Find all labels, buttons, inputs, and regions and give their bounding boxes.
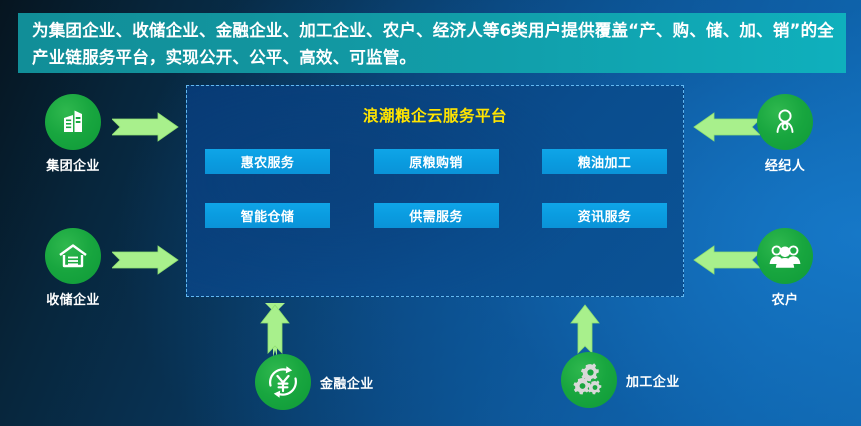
actor-label-farmer: 农户 xyxy=(757,289,813,308)
actor-group-enterprise[interactable]: 集团企业 xyxy=(45,94,101,174)
warehouse-icon xyxy=(45,228,101,284)
service-box-yuanliang[interactable]: 原粮购销 xyxy=(374,149,499,174)
arrow-storage-enterprise-to-platform xyxy=(112,245,180,275)
panel-title: 浪潮粮企云服务平台 xyxy=(187,104,683,126)
farmer-group-icon xyxy=(757,228,813,284)
actor-broker[interactable]: 经纪人 xyxy=(757,94,813,174)
service-box-liangyou[interactable]: 粮油加工 xyxy=(542,149,667,174)
actor-label-finance-enterprise: 金融企业 xyxy=(320,373,374,392)
actor-label-group-enterprise: 集团企业 xyxy=(45,155,101,174)
office-building-icon xyxy=(45,94,101,150)
banner-text: 为集团企业、收储企业、金融企业、加工企业、农户、经济人等6类用户提供覆盖“产、购… xyxy=(32,17,834,71)
actor-processing-enterprise[interactable]: 加工企业 xyxy=(561,352,680,408)
gears-icon xyxy=(561,352,617,408)
broker-person-icon xyxy=(757,94,813,150)
arrow-processing-enterprise-to-platform xyxy=(568,303,602,359)
actor-finance-enterprise[interactable]: 金融企业 xyxy=(255,354,374,410)
service-row-top: 惠农服务 原粮购销 粮油加工 xyxy=(205,149,667,174)
service-box-huinong[interactable]: 惠农服务 xyxy=(205,149,330,174)
diagram-canvas: 为集团企业、收储企业、金融企业、加工企业、农户、经济人等6类用户提供覆盖“产、购… xyxy=(0,0,861,426)
platform-panel: 浪潮粮企云服务平台 惠农服务 原粮购销 粮油加工 智能仓储 供需服务 资讯服务 xyxy=(186,85,684,297)
service-row-bottom: 智能仓储 供需服务 资讯服务 xyxy=(205,203,667,228)
actor-label-broker: 经纪人 xyxy=(757,155,813,174)
description-banner: 为集团企业、收储企业、金融企业、加工企业、农户、经济人等6类用户提供覆盖“产、购… xyxy=(18,13,846,73)
arrow-platform-to-broker xyxy=(692,112,760,142)
arrow-platform-to-farmer xyxy=(692,245,760,275)
service-box-zhineng-cangchu[interactable]: 智能仓储 xyxy=(205,203,330,228)
actor-storage-enterprise[interactable]: 收储企业 xyxy=(45,228,101,308)
arrow-group-enterprise-to-platform xyxy=(112,112,180,142)
arrow-finance-enterprise-to-platform xyxy=(258,303,292,359)
service-box-zixun[interactable]: 资讯服务 xyxy=(542,203,667,228)
actor-label-storage-enterprise: 收储企业 xyxy=(45,289,101,308)
service-box-gongxu[interactable]: 供需服务 xyxy=(374,203,499,228)
actor-farmer[interactable]: 农户 xyxy=(757,228,813,308)
actor-label-processing-enterprise: 加工企业 xyxy=(626,371,680,390)
yuan-currency-cycle-icon xyxy=(255,354,311,410)
